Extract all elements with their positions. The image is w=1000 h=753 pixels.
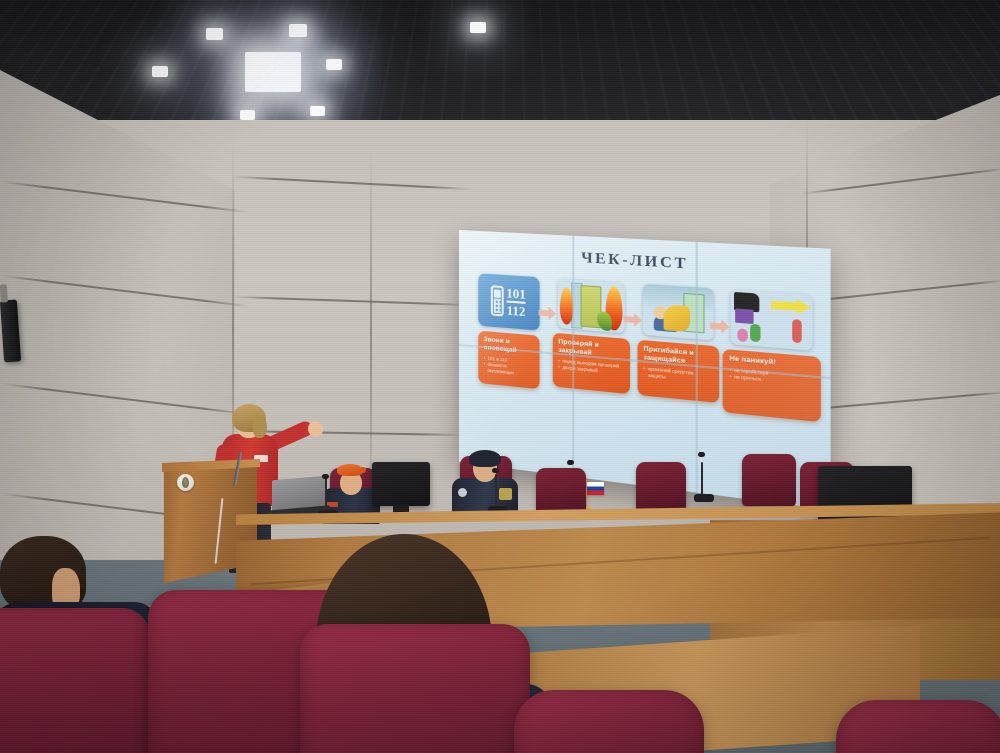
table-microphone bbox=[488, 468, 510, 514]
microphone-neck bbox=[495, 474, 497, 508]
person-shape bbox=[737, 328, 747, 342]
presenter-hair-side bbox=[253, 416, 267, 438]
step-bullets-1: 101 и 112 оповести окружающих bbox=[484, 355, 533, 378]
shoulder-patch bbox=[458, 488, 467, 497]
flame-shape bbox=[559, 287, 572, 325]
emergency-number-primary: 101 bbox=[506, 286, 525, 301]
burning-door-icon bbox=[557, 278, 624, 333]
ceiling-light bbox=[245, 52, 301, 92]
podium-emblem bbox=[177, 474, 194, 491]
ceiling-light bbox=[326, 59, 342, 70]
step-card-4: Не паникуй! не геройствуй не прячься bbox=[723, 349, 821, 422]
microphone-neck bbox=[701, 462, 703, 496]
step-card-1: Звони и оповещай 101 и 112 оповести окру… bbox=[478, 331, 539, 390]
table-microphone bbox=[318, 474, 340, 518]
russian-tricolor-flag bbox=[586, 482, 604, 495]
audience-chair[interactable] bbox=[300, 624, 530, 753]
step-bullets-2: перед выходом проверяй двери закрывай bbox=[558, 358, 623, 376]
step-bullets-3: применяй средства защиты bbox=[643, 366, 711, 385]
table-microphone bbox=[694, 452, 716, 502]
microphone-neck bbox=[325, 478, 327, 512]
ceiling-light bbox=[310, 106, 325, 116]
step-card-3: Пригибайся и защищайся применяй средства… bbox=[637, 340, 719, 403]
emergency-numbers: 101 112 bbox=[506, 286, 525, 319]
checklist-step-4: Не паникуй! не геройствуй не прячься bbox=[723, 289, 821, 422]
audience-chair[interactable] bbox=[836, 700, 1000, 753]
ceiling-light bbox=[240, 110, 255, 120]
panel-chair bbox=[636, 462, 686, 512]
microphone-capsule bbox=[698, 452, 705, 457]
checklist-step-1: 101 112 Звони и оповещай 101 и 112 опове… bbox=[469, 273, 549, 390]
ceiling-light bbox=[470, 22, 486, 33]
towel-shape bbox=[663, 304, 689, 332]
microphone-base bbox=[694, 494, 714, 502]
ceiling-light bbox=[289, 24, 307, 37]
plant-shape bbox=[597, 311, 612, 331]
person-shape bbox=[792, 319, 802, 343]
step-card-2: Проверяй и закрывай перед выходом провер… bbox=[552, 333, 629, 394]
officer-hair bbox=[469, 450, 501, 467]
ceiling-light bbox=[206, 28, 223, 40]
microphone-capsule bbox=[492, 468, 499, 473]
panel-chair bbox=[536, 468, 586, 516]
conference-hall-photo: ЧЕК-ЛИСТ 101 112 Звони и оповещай bbox=[0, 0, 1000, 753]
person-shape bbox=[750, 324, 760, 342]
orange-beret bbox=[337, 464, 363, 476]
handset-glyph bbox=[491, 285, 504, 316]
checklist-step-3: Пригибайся и защищайся применяй средства… bbox=[633, 283, 722, 403]
microphone-capsule bbox=[322, 474, 329, 479]
checklist-step-2: Проверяй и закрывай перед выходом провер… bbox=[549, 278, 634, 395]
audience-chair[interactable] bbox=[514, 690, 704, 753]
audience-chair[interactable] bbox=[0, 608, 150, 753]
panel-chair bbox=[742, 454, 796, 506]
microphone-capsule bbox=[567, 460, 574, 465]
panel-monitor-left[interactable] bbox=[372, 462, 430, 506]
ceiling-light bbox=[152, 66, 168, 77]
emergency-number-secondary: 112 bbox=[506, 304, 525, 319]
furniture-shape bbox=[735, 308, 753, 324]
step-bullet: применяй средства защиты bbox=[643, 366, 711, 385]
evacuation-exit-icon bbox=[731, 290, 813, 351]
crouch-cover-icon bbox=[642, 284, 713, 341]
exit-arrow-icon bbox=[771, 298, 811, 315]
phone-emergency-icon: 101 112 bbox=[478, 273, 539, 330]
